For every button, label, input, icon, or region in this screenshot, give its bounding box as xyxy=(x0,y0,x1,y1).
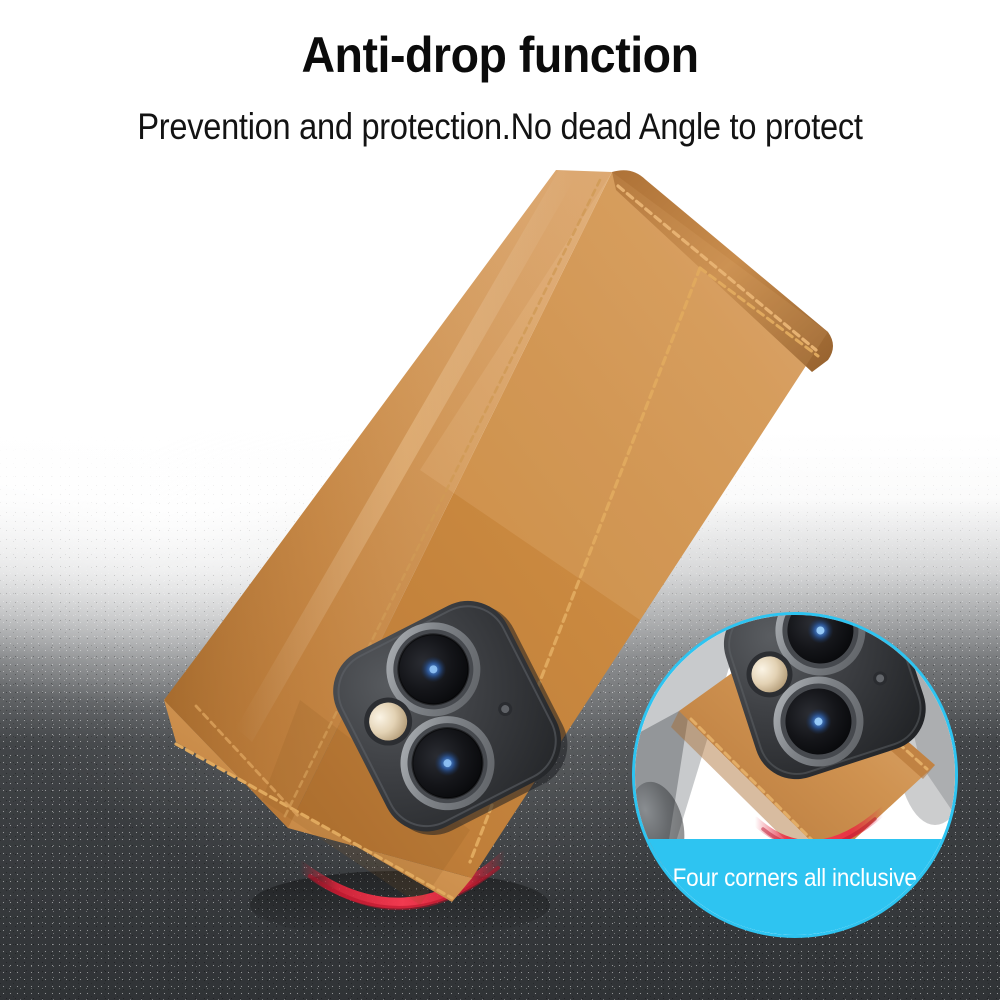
page-subtitle: Prevention and protection.No dead Angle … xyxy=(60,106,940,148)
inset-caption-band: Four corners all inclusive xyxy=(635,839,955,935)
detail-inset-circle: Four corners all inclusive xyxy=(632,612,958,938)
page-title: Anti-drop function xyxy=(35,26,965,84)
inset-caption-text: Four corners all inclusive xyxy=(673,864,917,893)
product-marketing-image: Anti-drop function Prevention and protec… xyxy=(0,0,1000,1000)
